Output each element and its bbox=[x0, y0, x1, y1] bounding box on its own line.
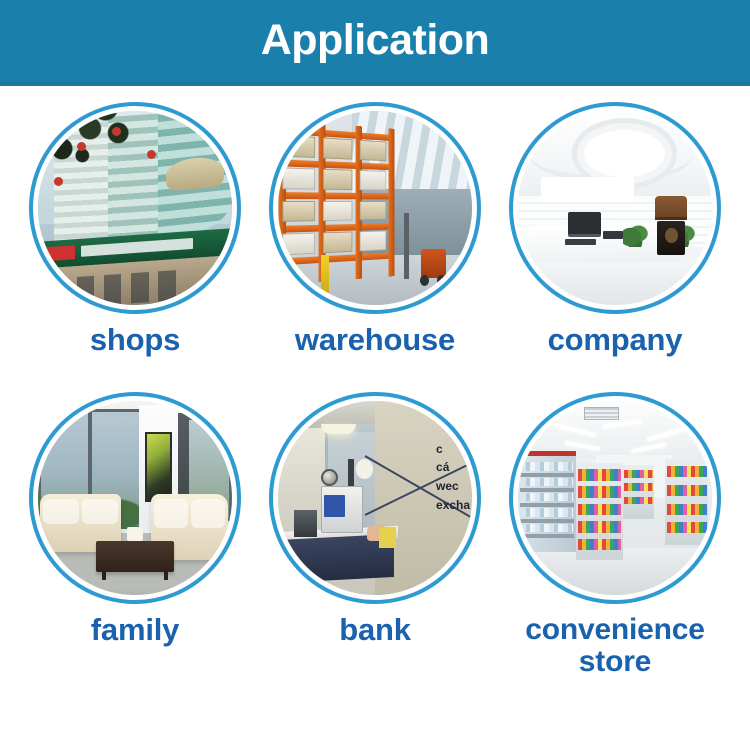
shelf-right bbox=[665, 459, 708, 544]
grid-row-1: shops bbox=[0, 96, 750, 386]
grid-row-2: family bbox=[0, 386, 750, 676]
convenience-store-circle-frame[interactable] bbox=[509, 392, 721, 604]
forklift bbox=[418, 235, 449, 285]
label-bank: bank bbox=[339, 614, 411, 645]
page-title: Application bbox=[0, 0, 750, 82]
bank-scene: c cá wec excha bbox=[278, 401, 472, 595]
application-item-shops[interactable]: shops bbox=[15, 96, 255, 386]
application-item-family[interactable]: family bbox=[15, 386, 255, 676]
label-family: family bbox=[91, 614, 179, 645]
warehouse-circle-frame[interactable] bbox=[269, 102, 481, 314]
shops-photo bbox=[38, 111, 232, 305]
bank-circle-frame[interactable]: c cá wec excha bbox=[269, 392, 481, 604]
ceiling-lamp bbox=[321, 424, 356, 434]
pallet-racking bbox=[278, 119, 395, 286]
convenience-store-scene bbox=[518, 401, 712, 595]
company-photo bbox=[518, 111, 712, 305]
ceiling-light bbox=[584, 130, 665, 177]
label-shops: shops bbox=[90, 324, 180, 355]
cash-counting-machine bbox=[321, 486, 364, 533]
lobby-ornament bbox=[654, 196, 689, 254]
bank-photo: c cá wec excha bbox=[278, 401, 472, 595]
warehouse-photo bbox=[278, 111, 472, 305]
shelf-center bbox=[576, 463, 623, 560]
application-item-convenience-store[interactable]: convenience store bbox=[495, 386, 735, 676]
warehouse-scene bbox=[278, 111, 472, 305]
company-circle-frame[interactable] bbox=[509, 102, 721, 314]
ceiling-vent bbox=[584, 407, 619, 421]
tree-foliage bbox=[38, 111, 154, 212]
shops-scene bbox=[38, 111, 232, 305]
header-banner: Application bbox=[0, 0, 750, 86]
bank-wall-text: c cá wec excha bbox=[436, 440, 470, 514]
coffee-table bbox=[96, 541, 174, 572]
application-grid: shops bbox=[0, 96, 750, 750]
shelf-back bbox=[623, 465, 654, 519]
application-page: Application bbox=[0, 0, 750, 750]
shops-circle-frame[interactable] bbox=[29, 102, 241, 314]
family-circle-frame[interactable] bbox=[29, 392, 241, 604]
application-item-bank[interactable]: c cá wec excha bbox=[255, 386, 495, 676]
label-company: company bbox=[548, 324, 683, 355]
teller-counter bbox=[278, 534, 394, 583]
company-scene bbox=[518, 111, 712, 305]
application-item-warehouse[interactable]: warehouse bbox=[255, 96, 495, 386]
label-warehouse: warehouse bbox=[295, 324, 455, 355]
family-photo bbox=[38, 401, 232, 595]
label-convenience-store: convenience store bbox=[525, 614, 705, 679]
family-scene bbox=[38, 401, 232, 595]
refrigerated-case bbox=[518, 451, 576, 552]
wall-artwork bbox=[145, 432, 172, 502]
application-item-company[interactable]: company bbox=[495, 96, 735, 386]
desk-monitor bbox=[568, 212, 601, 237]
convenience-store-photo bbox=[518, 401, 712, 595]
